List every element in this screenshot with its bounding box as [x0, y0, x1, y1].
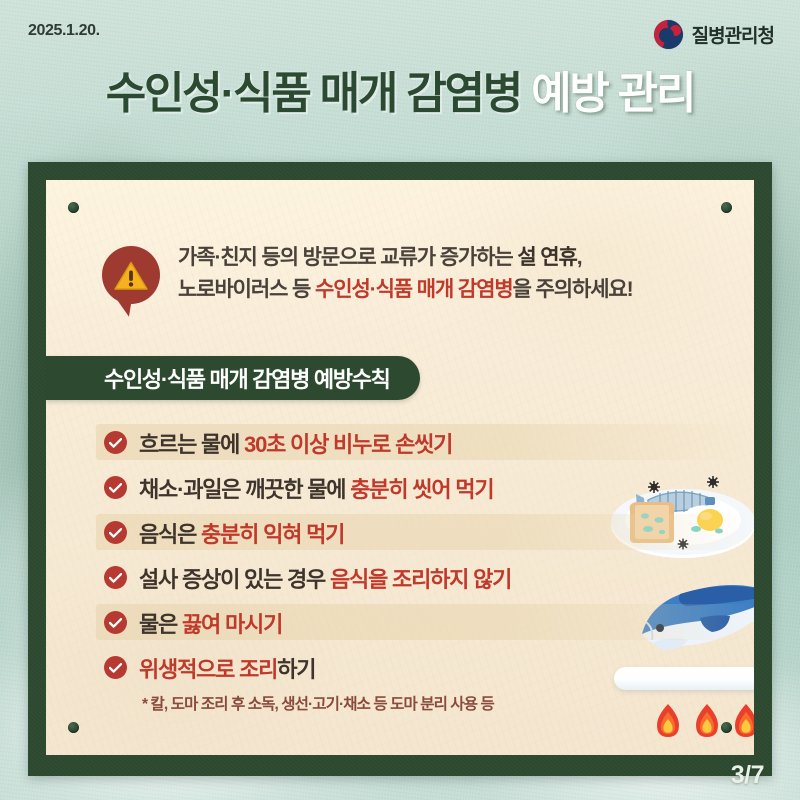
checklist-item-text: 물은 끓여 마시기 [139, 607, 282, 639]
check-circle-icon [104, 521, 127, 544]
notice-line2-emphasis: 수인성·식품 매개 감염병 [315, 278, 513, 301]
notice-line1-emphasis: 설 연휴 [517, 246, 576, 269]
warning-speech-bubble [102, 246, 160, 304]
section-header-label: 수인성·식품 매개 감염병 예방수칙 [104, 362, 390, 394]
taegeuk-icon [654, 20, 683, 49]
checklist-item-text: 위생적으로 조리하기 [139, 652, 315, 684]
kdca-logo: 질병관리청 [654, 20, 774, 49]
checklist-text-highlight: 끓여 마시기 [182, 612, 282, 637]
checklist-text-plain: 흐르는 물에 [139, 432, 244, 457]
infographic-poster: 2025.1.20. 질병관리청 수인성·식품 매개 감염병 예방 관리 [0, 0, 800, 800]
organization-name: 질병관리청 [692, 21, 774, 48]
checklist-item-text: 채소·과일은 깨끗한 물에 충분히 씻어 먹기 [139, 472, 493, 504]
content-panel: 가족·친지 등의 방문으로 교류가 증가하는 설 연휴, 노로바이러스 등 수인… [46, 180, 754, 755]
notice-line2-prefix: 노로바이러스 등 [178, 278, 315, 301]
checklist-text-highlight: 위생적으로 조리 [139, 657, 277, 682]
checklist-text-highlight: 30초 이상 비누로 손씻기 [244, 432, 452, 457]
checklist-text-plain: 음식은 [139, 522, 201, 547]
check-circle-icon [104, 656, 127, 679]
checklist-item: 물은 끓여 마시기 [46, 600, 754, 645]
checklist-item: 위생적으로 조리하기 [46, 645, 754, 690]
checklist-item-text: 음식은 충분히 익혀 먹기 [139, 517, 344, 549]
top-bar: 2025.1.20. 질병관리청 [0, 0, 800, 62]
screw-icon-top-left [68, 202, 79, 213]
checklist-item: 흐르는 물에 30초 이상 비누로 손씻기 [46, 420, 754, 465]
check-circle-icon [104, 611, 127, 634]
checklist-item: 채소·과일은 깨끗한 물에 충분히 씻어 먹기 [46, 465, 754, 510]
notice-line-2: 노로바이러스 등 수인성·식품 매개 감염병을 주의하세요! [178, 274, 633, 306]
checklist-text-plain: 물은 [139, 612, 182, 637]
notice-block: 가족·친지 등의 방문으로 교류가 증가하는 설 연휴, 노로바이러스 등 수인… [102, 242, 633, 306]
checklist-text-plain: 채소·과일은 깨끗한 물에 [139, 477, 350, 502]
checklist-item: 설사 증상이 있는 경우 음식을 조리하지 않기 [46, 555, 754, 600]
notice-line-1: 가족·친지 등의 방문으로 교류가 증가하는 설 연휴, [178, 242, 633, 274]
screw-icon-bottom-left [68, 722, 79, 733]
checklist-item: 음식은 충분히 익혀 먹기 [46, 510, 754, 555]
page-title-dark: 수인성·식품 매개 감염병 [106, 69, 521, 118]
checklist-text-after: 하기 [277, 657, 315, 682]
notice-line1-suffix: , [577, 246, 582, 269]
check-circle-icon [104, 476, 127, 499]
notice-line2-suffix: 을 주의하세요! [513, 278, 633, 301]
notice-line1-prefix: 가족·친지 등의 방문으로 교류가 증가하는 [178, 246, 517, 269]
warning-triangle-icon [114, 261, 148, 291]
checklist-item-text: 흐르는 물에 30초 이상 비누로 손씻기 [139, 427, 452, 459]
checklist-text-plain: 설사 증상이 있는 경우 [139, 567, 330, 592]
checklist-text-highlight: 충분히 익혀 먹기 [201, 522, 344, 547]
checklist-text-highlight: 음식을 조리하지 않기 [330, 567, 511, 592]
publication-date: 2025.1.20. [28, 22, 100, 40]
page-title-light: 예방 관리 [531, 69, 694, 118]
check-circle-icon [104, 566, 127, 589]
checklist-text-highlight: 충분히 씻어 먹기 [350, 477, 493, 502]
prevention-checklist: 흐르는 물에 30초 이상 비누로 손씻기 채소·과일은 깨끗한 물에 충분히 … [46, 420, 754, 714]
check-circle-icon [104, 431, 127, 454]
notice-text: 가족·친지 등의 방문으로 교류가 증가하는 설 연휴, 노로바이러스 등 수인… [178, 242, 633, 306]
page-title: 수인성·식품 매개 감염병 예방 관리 [0, 72, 800, 116]
checklist-item-text: 설사 증상이 있는 경우 음식을 조리하지 않기 [139, 562, 511, 594]
checklist-footnote: * 칼, 도마 조리 후 소독, 생선·고기·채소 등 도마 분리 사용 등 [46, 692, 754, 714]
screw-icon-top-right [721, 202, 732, 213]
section-header-pill: 수인성·식품 매개 감염병 예방수칙 [46, 356, 420, 400]
page-indicator: 3/7 [731, 761, 764, 790]
